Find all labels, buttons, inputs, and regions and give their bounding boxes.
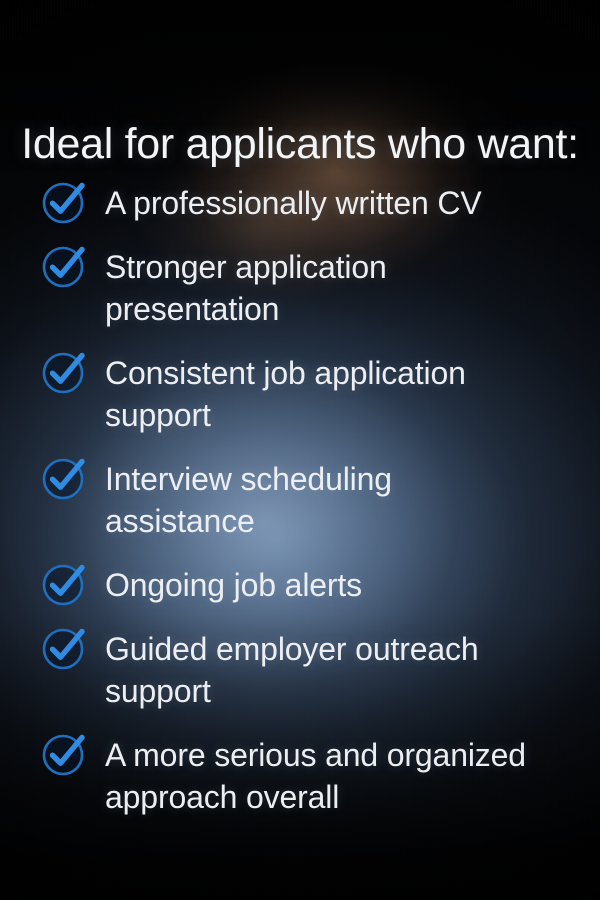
check-circle-icon [42,180,88,224]
benefit-label: Ongoing job alerts [105,564,362,606]
benefit-label: Interview scheduling assistance [105,458,535,542]
list-item: Ongoing job alerts [0,564,600,606]
check-circle-icon [42,456,88,500]
list-item: Consistent job application support [0,352,600,436]
check-circle-icon [42,626,88,670]
poster-content: Ideal for applicants who want: A profess… [0,0,600,900]
benefit-label: A more serious and organized approach ov… [105,734,535,818]
benefit-label: A professionally written CV [105,182,482,224]
list-item: Stronger application presentation [0,246,600,330]
benefit-list: A professionally written CV Stronger app… [0,182,600,818]
benefit-label: Guided employer outreach support [105,628,535,712]
benefit-label: Consistent job application support [105,352,535,436]
list-item: A more serious and organized approach ov… [0,734,600,818]
check-circle-icon [42,350,88,394]
promo-poster: Ideal for applicants who want: A profess… [0,0,600,900]
check-circle-icon [42,732,88,776]
list-item: A professionally written CV [0,182,600,224]
list-item: Guided employer outreach support [0,628,600,712]
page-title: Ideal for applicants who want: [0,122,600,167]
check-circle-icon [42,562,88,606]
list-item: Interview scheduling assistance [0,458,600,542]
benefit-label: Stronger application presentation [105,246,535,330]
check-circle-icon [42,244,88,288]
